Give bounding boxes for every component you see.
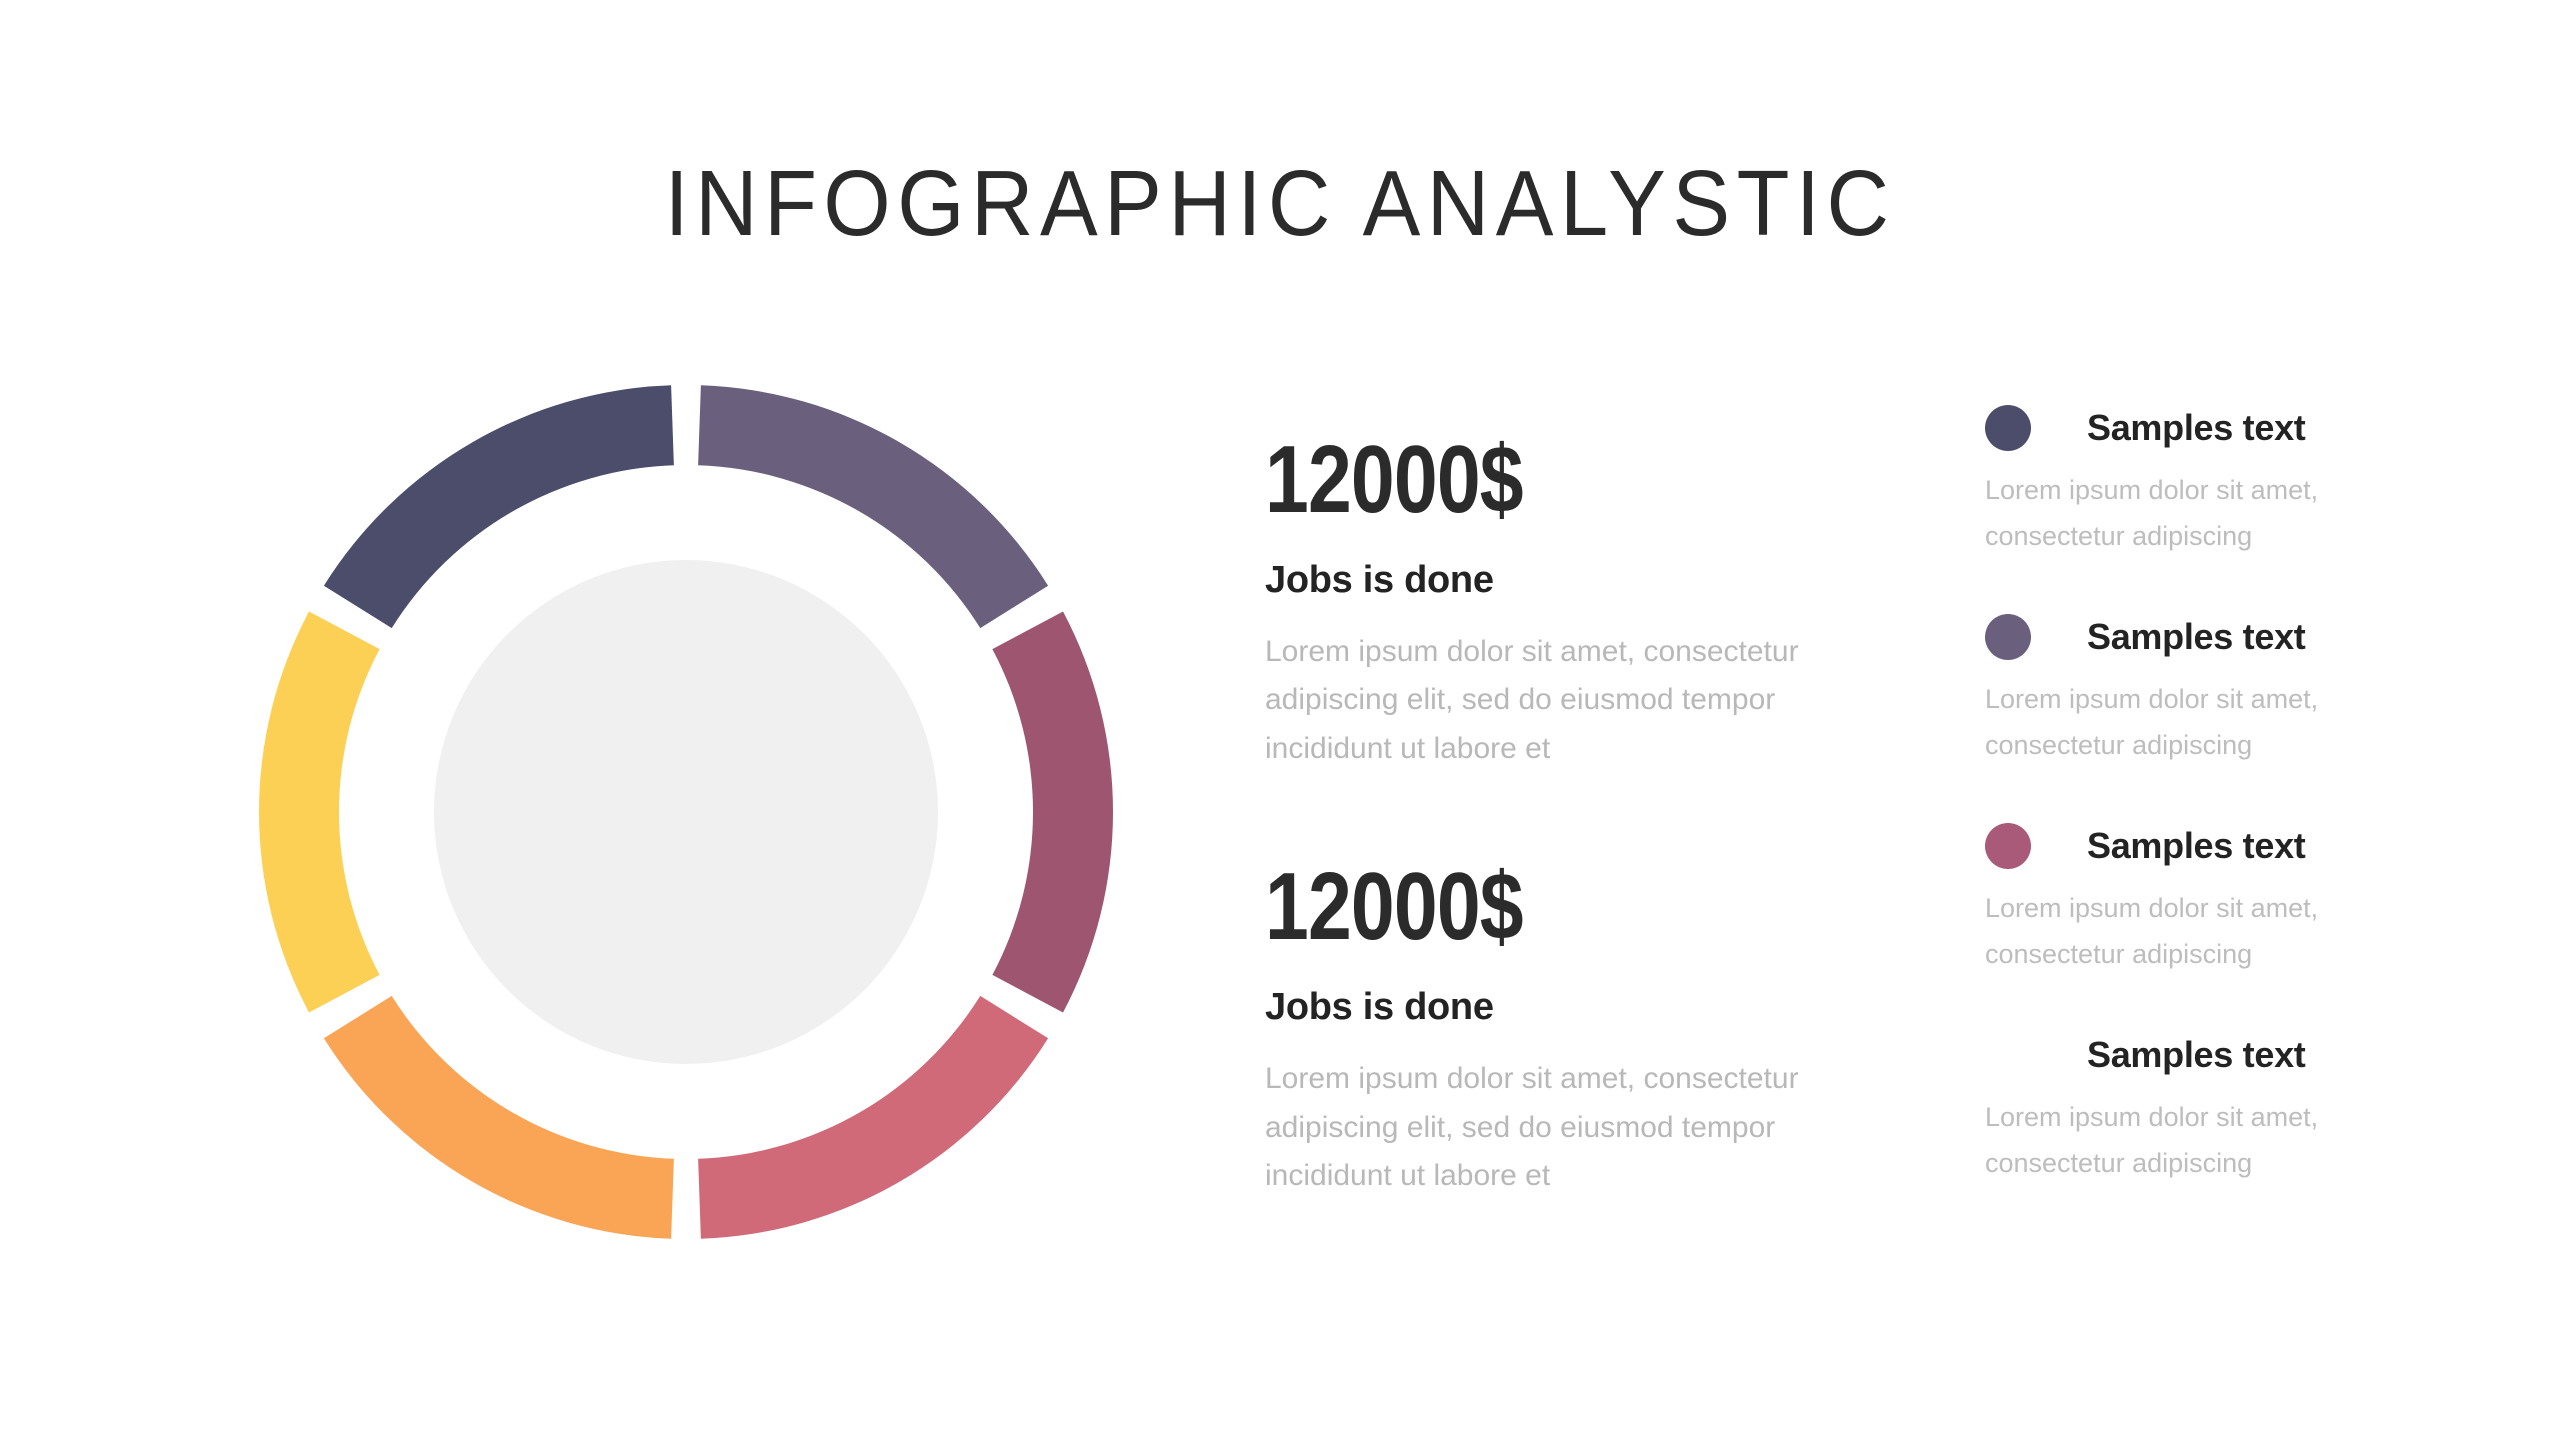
legend-title-2: Samples text <box>2087 616 2306 658</box>
legend-item-3: Samples text Lorem ipsum dolor sit amet,… <box>1985 823 2415 978</box>
stat-value-1: 12000$ <box>1265 432 1724 528</box>
legend-bullet-icon <box>1985 614 2031 660</box>
legend-item-2: Samples text Lorem ipsum dolor sit amet,… <box>1985 614 2415 769</box>
segment-yellow <box>259 612 380 1013</box>
legend-head-1: Samples text <box>1985 405 2415 451</box>
stat-description-1: Lorem ipsum dolor sit amet, consectetur … <box>1265 628 1805 774</box>
stat-description-2: Lorem ipsum dolor sit amet, consectetur … <box>1265 1055 1805 1201</box>
stat-label-1: Jobs is done <box>1265 558 1825 604</box>
legend-description-2: Lorem ipsum dolor sit amet, consectetur … <box>1985 676 2385 769</box>
legend-description-4: Lorem ipsum dolor sit amet, consectetur … <box>1985 1094 2385 1187</box>
donut-chart <box>259 385 1113 1239</box>
legend-column: Samples text Lorem ipsum dolor sit amet,… <box>1985 405 2415 1241</box>
legend-head-2: Samples text <box>1985 614 2415 660</box>
donut-chart-svg <box>259 385 1113 1239</box>
stats-column: 12000$ Jobs is done Lorem ipsum dolor si… <box>1265 432 1825 1201</box>
legend-title-1: Samples text <box>2087 407 2306 449</box>
legend-title-3: Samples text <box>2087 825 2306 867</box>
legend-item-1: Samples text Lorem ipsum dolor sit amet,… <box>1985 405 2415 560</box>
legend-description-1: Lorem ipsum dolor sit amet, consectetur … <box>1985 467 2385 560</box>
legend-head-3: Samples text <box>1985 823 2415 869</box>
stat-label-2: Jobs is done <box>1265 985 1825 1031</box>
legend-item-4: Samples text Lorem ipsum dolor sit amet,… <box>1985 1032 2415 1187</box>
donut-center-circle <box>434 560 938 1064</box>
page-title: INFOGRAPHIC ANALYSTIC <box>90 152 2471 254</box>
legend-bullet-icon <box>1985 405 2031 451</box>
legend-title-4: Samples text <box>2087 1034 2306 1076</box>
legend-head-4: Samples text <box>1985 1032 2415 1078</box>
legend-description-3: Lorem ipsum dolor sit amet, consectetur … <box>1985 885 2385 978</box>
legend-bullet-icon <box>1985 823 2031 869</box>
infographic-slide: INFOGRAPHIC ANALYSTIC 12000$ Jobs is don… <box>0 0 2560 1440</box>
segment-wine <box>992 612 1113 1013</box>
stat-value-2: 12000$ <box>1265 859 1724 955</box>
stat-block-2: 12000$ Jobs is done Lorem ipsum dolor si… <box>1265 859 1825 1200</box>
stat-block-1: 12000$ Jobs is done Lorem ipsum dolor si… <box>1265 432 1825 773</box>
